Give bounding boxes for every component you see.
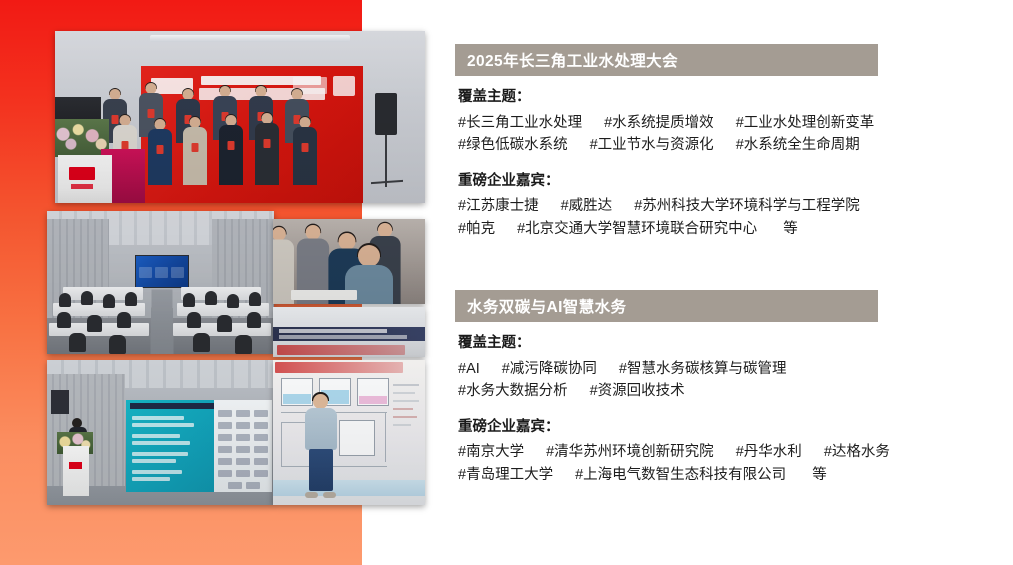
etc-label: 等 (783, 221, 798, 237)
content-column: 2025年长三角工业水处理大会 覆盖主题： #长三角工业水处理 #水系统提质增效… (450, 0, 1013, 565)
tag: #帕克 (458, 221, 495, 237)
section-2-guests-line-1: #南京大学 #清华苏州环境创新研究院 #丹华水利 #达格水务 (458, 441, 1003, 463)
section-1-guests-line-1: #江苏康士捷 #威胜达 #苏州科技大学环境科学与工程学院 (458, 195, 1003, 217)
tag: #水务大数据分析 (458, 383, 568, 399)
tag: #南京大学 (458, 444, 524, 460)
section-2-guests-line-2: #青岛理工大学 #上海电气数智生态科技有限公司 等 (458, 464, 1003, 486)
tag: #北京交通大学智慧环境联合研究中心 (517, 221, 757, 237)
section-2-topics-line-2: #水务大数据分析 #资源回收技术 (458, 380, 1003, 402)
tag: #智慧水务碳核算与碳管理 (619, 361, 787, 377)
tag: #江苏康士捷 (458, 198, 539, 214)
tag: #威胜达 (561, 198, 613, 214)
section-1-topics-line-2: #绿色低碳水系统 #工业节水与资源化 #水系统全生命周期 (458, 134, 1003, 156)
section-header-2: 水务双碳与AI智慧水务 (455, 290, 878, 322)
tag: #资源回收技术 (590, 383, 685, 399)
group-photo (55, 31, 425, 203)
podium-led-wall-photo (47, 360, 274, 505)
section-2-guests-label: 重磅企业嘉宾： (458, 418, 1003, 438)
tag: #达格水务 (824, 444, 890, 460)
section-1-topics-label: 覆盖主题： (458, 88, 1003, 108)
section-1-title: 2025年长三角工业水处理大会 (455, 49, 678, 71)
section-1-guests-label: 重磅企业嘉宾： (458, 172, 1003, 192)
tag: #长三角工业水处理 (458, 115, 582, 131)
section-1-topics-line-1: #长三角工业水处理 #水系统提质增效 #工业水处理创新变革 (458, 112, 1003, 134)
section-2-topics-line-1: #AI #减污降碳协同 #智慧水务碳核算与碳管理 (458, 358, 1003, 380)
tag: #青岛理工大学 (458, 467, 553, 483)
section-2-body: 覆盖主题： #AI #减污降碳协同 #智慧水务碳核算与碳管理 #水务大数据分析 … (458, 334, 1003, 486)
tag: #水系统提质增效 (604, 115, 714, 131)
tag: #苏州科技大学环境科学与工程学院 (634, 198, 860, 214)
tag: #工业节水与资源化 (590, 137, 714, 153)
tag: #绿色低碳水系统 (458, 137, 568, 153)
tag: #清华苏州环境创新研究院 (546, 444, 714, 460)
tag: #丹华水利 (736, 444, 802, 460)
tag: #上海电气数智生态科技有限公司 (575, 467, 786, 483)
section-header-1: 2025年长三角工业水处理大会 (455, 44, 878, 76)
section-2-title: 水务双碳与AI智慧水务 (455, 295, 626, 317)
section-2-topics-label: 覆盖主题： (458, 334, 1003, 354)
tag: #AI (458, 361, 480, 377)
etc-label: 等 (812, 467, 827, 483)
audience-closeup-photo (273, 219, 425, 304)
presentation-slide-photo (273, 307, 425, 357)
presenter-whiteboard-photo (273, 360, 425, 505)
slide-root: 2025年长三角工业水处理大会 覆盖主题： #长三角工业水处理 #水系统提质增效… (0, 0, 1013, 565)
tag: #工业水处理创新变革 (736, 115, 875, 131)
section-1-body: 覆盖主题： #长三角工业水处理 #水系统提质增效 #工业水处理创新变革 #绿色低… (458, 88, 1003, 240)
conference-hall-photo (47, 211, 274, 354)
tag: #减污降碳协同 (502, 361, 597, 377)
tag: #水系统全生命周期 (736, 137, 860, 153)
section-1-guests-line-2: #帕克 #北京交通大学智慧环境联合研究中心 等 (458, 218, 1003, 240)
